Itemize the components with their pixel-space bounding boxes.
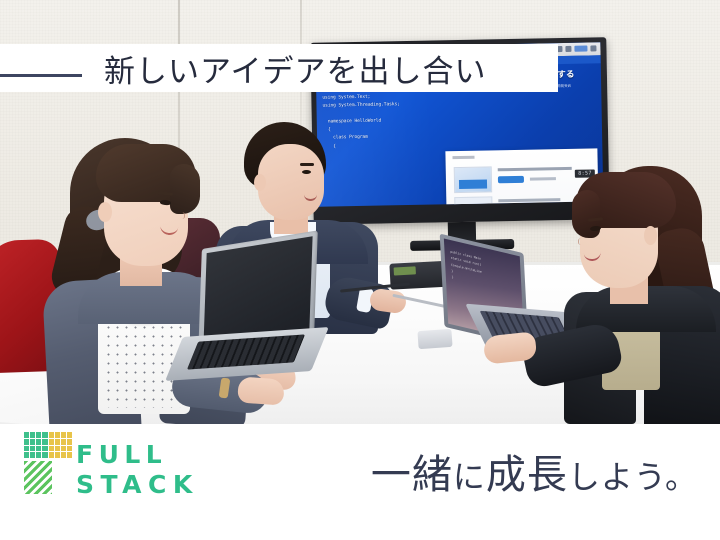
logo-mark-icon [24, 432, 72, 494]
account-icon [574, 46, 587, 52]
logo-dot-grid [24, 432, 72, 458]
logo-line-2: STACK [76, 470, 199, 500]
tagline-part-1: 一緒 [371, 452, 453, 498]
person-right-woman [560, 164, 720, 424]
logo-wordmark: FULL STACK [76, 440, 199, 499]
tagline-part-2: 成長 [486, 452, 568, 498]
tagline: 一緒に成長しよう。 [371, 442, 698, 500]
logo-line-1: FULL [76, 440, 199, 470]
tagline-part-3: しよう。 [568, 458, 698, 496]
headline-text: 新しいアイデアを出し合い [104, 44, 486, 92]
menu-icon [590, 45, 596, 51]
logo-stripes [24, 461, 52, 494]
sync-icon [565, 46, 571, 52]
tagline-particle: に [453, 458, 486, 496]
recruit-banner: using System; using System.Collections.G… [0, 0, 720, 540]
photo-area: using System; using System.Collections.G… [0, 0, 720, 424]
footer: FULL STACK 一緒に成長しよう。 [0, 424, 720, 540]
silver-laptop [176, 240, 318, 380]
brand-logo[interactable]: FULL STACK [24, 432, 200, 516]
headline-rule [0, 74, 82, 77]
